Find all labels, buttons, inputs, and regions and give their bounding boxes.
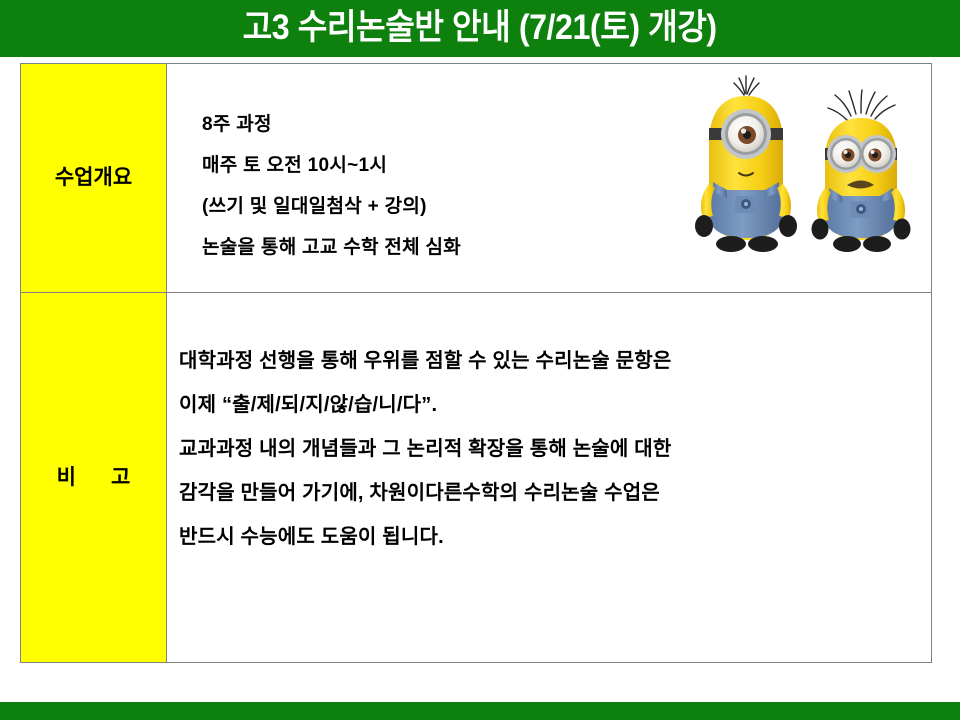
notes-line-4: 감각을 만들어 가기에, 차원이다른수학의 수리논술 수업은 [179, 471, 943, 515]
overview-line-4: 논술을 통해 고교 수학 전체 심화 [202, 227, 461, 268]
minion-two-eyed [812, 90, 911, 252]
page-title: 고3 수리논술반 안내 (7/21(토) 개강) [243, 10, 717, 47]
row-label-overview: 수업개요 [55, 166, 132, 189]
table-row-notes: 비 고 대학과정 선행을 통해 우위를 점할 수 있는 수리논술 문항은 이제 … [21, 293, 932, 663]
overview-text-block: 8주 과정 매주 토 오전 10시~1시 (쓰기 및 일대일첨삭 + 강의) 논… [202, 104, 461, 268]
overview-line-2: 매주 토 오전 10시~1시 [202, 145, 461, 186]
row-body-cell-overview: 8주 과정 매주 토 오전 10시~1시 (쓰기 및 일대일첨삭 + 강의) 논… [167, 64, 932, 293]
notes-text-block: 대학과정 선행을 통해 우위를 점할 수 있는 수리논술 문항은 이제 “출/제… [179, 339, 943, 559]
two-minion-characters-image [683, 72, 923, 272]
minion-one-eyed [695, 76, 797, 252]
notes-line-2: 이제 “출/제/되/지/않/습/니/다”. [179, 383, 943, 427]
overview-line-3: (쓰기 및 일대일첨삭 + 강의) [202, 186, 461, 227]
row-label-cell-overview: 수업개요 [21, 64, 167, 293]
row-label-cell-notes: 비 고 [21, 293, 167, 663]
row-label-notes: 비 고 [57, 466, 131, 489]
row-body-cell-notes: 대학과정 선행을 통해 우위를 점할 수 있는 수리논술 문항은 이제 “출/제… [167, 293, 932, 663]
notes-line-5: 반드시 수능에도 도움이 됩니다. [179, 515, 943, 559]
title-banner: 고3 수리논술반 안내 (7/21(토) 개강) [0, 0, 960, 57]
overview-line-1: 8주 과정 [202, 104, 461, 145]
footer-banner [0, 702, 960, 720]
table-row-overview: 수업개요 8주 과정 매주 토 오전 10시~1시 (쓰기 및 일대일첨삭 + … [21, 64, 932, 293]
notes-line-1: 대학과정 선행을 통해 우위를 점할 수 있는 수리논술 문항은 [179, 339, 943, 383]
course-info-table: 수업개요 8주 과정 매주 토 오전 10시~1시 (쓰기 및 일대일첨삭 + … [20, 63, 932, 663]
notes-line-3: 교과과정 내의 개념들과 그 논리적 확장을 통해 논술에 대한 [179, 427, 943, 471]
